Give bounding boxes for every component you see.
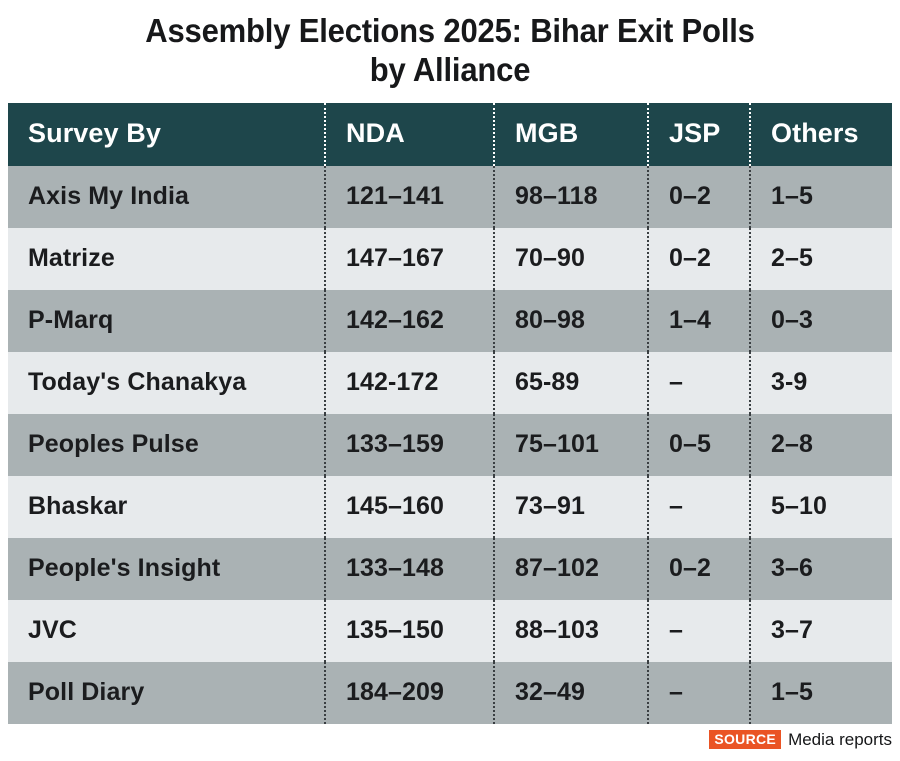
cell-survey: Peoples Pulse [8, 414, 325, 476]
table-row: Poll Diary 184–209 32–49 – 1–5 [8, 662, 892, 724]
cell-mgb: 32–49 [494, 662, 648, 724]
cell-survey: People's Insight [8, 538, 325, 600]
exit-poll-table-container: Survey By NDA MGB JSP Others Axis My Ind… [8, 103, 892, 724]
infographic-page: Assembly Elections 2025: Bihar Exit Poll… [0, 0, 900, 761]
cell-survey: Poll Diary [8, 662, 325, 724]
cell-mgb: 73–91 [494, 476, 648, 538]
cell-others: 2–8 [750, 414, 892, 476]
cell-others: 3–6 [750, 538, 892, 600]
cell-jsp: 0–5 [648, 414, 750, 476]
cell-others: 1–5 [750, 662, 892, 724]
cell-jsp: – [648, 662, 750, 724]
cell-jsp: 0–2 [648, 166, 750, 228]
cell-nda: 145–160 [325, 476, 494, 538]
exit-poll-table: Survey By NDA MGB JSP Others Axis My Ind… [8, 103, 892, 724]
cell-jsp: 0–2 [648, 228, 750, 290]
source-badge: SOURCE [709, 730, 781, 749]
column-header-survey-by: Survey By [8, 103, 325, 166]
cell-others: 1–5 [750, 166, 892, 228]
cell-jsp: – [648, 476, 750, 538]
cell-others: 3–7 [750, 600, 892, 662]
table-row: JVC 135–150 88–103 – 3–7 [8, 600, 892, 662]
cell-nda: 142–162 [325, 290, 494, 352]
cell-nda: 133–148 [325, 538, 494, 600]
table-header: Survey By NDA MGB JSP Others [8, 103, 892, 166]
column-header-mgb: MGB [494, 103, 648, 166]
cell-others: 3-9 [750, 352, 892, 414]
column-header-nda: NDA [325, 103, 494, 166]
table-row: Peoples Pulse 133–159 75–101 0–5 2–8 [8, 414, 892, 476]
table-body: Axis My India 121–141 98–118 0–2 1–5 Mat… [8, 166, 892, 724]
source-value: Media reports [788, 731, 892, 748]
table-row: People's Insight 133–148 87–102 0–2 3–6 [8, 538, 892, 600]
cell-survey: P-Marq [8, 290, 325, 352]
table-row: P-Marq 142–162 80–98 1–4 0–3 [8, 290, 892, 352]
cell-survey: Bhaskar [8, 476, 325, 538]
cell-others: 0–3 [750, 290, 892, 352]
cell-survey: Axis My India [8, 166, 325, 228]
cell-jsp: – [648, 600, 750, 662]
cell-jsp: 0–2 [648, 538, 750, 600]
title-line-1: Assembly Elections 2025: Bihar Exit Poll… [145, 12, 755, 49]
cell-mgb: 98–118 [494, 166, 648, 228]
cell-mgb: 75–101 [494, 414, 648, 476]
title-line-2: by Alliance [370, 51, 531, 88]
cell-jsp: – [648, 352, 750, 414]
table-row: Matrize 147–167 70–90 0–2 2–5 [8, 228, 892, 290]
cell-nda: 135–150 [325, 600, 494, 662]
column-header-jsp: JSP [648, 103, 750, 166]
table-row: Bhaskar 145–160 73–91 – 5–10 [8, 476, 892, 538]
source-footer: SOURCE Media reports [709, 730, 892, 749]
cell-mgb: 88–103 [494, 600, 648, 662]
cell-others: 2–5 [750, 228, 892, 290]
cell-nda: 184–209 [325, 662, 494, 724]
cell-others: 5–10 [750, 476, 892, 538]
cell-survey: Matrize [8, 228, 325, 290]
cell-nda: 133–159 [325, 414, 494, 476]
cell-mgb: 80–98 [494, 290, 648, 352]
cell-nda: 142-172 [325, 352, 494, 414]
cell-mgb: 87–102 [494, 538, 648, 600]
cell-nda: 147–167 [325, 228, 494, 290]
table-row: Axis My India 121–141 98–118 0–2 1–5 [8, 166, 892, 228]
cell-mgb: 70–90 [494, 228, 648, 290]
cell-nda: 121–141 [325, 166, 494, 228]
page-title: Assembly Elections 2025: Bihar Exit Poll… [27, 0, 873, 90]
table-row: Today's Chanakya 142-172 65-89 – 3-9 [8, 352, 892, 414]
column-header-others: Others [750, 103, 892, 166]
cell-survey: JVC [8, 600, 325, 662]
cell-survey: Today's Chanakya [8, 352, 325, 414]
cell-mgb: 65-89 [494, 352, 648, 414]
table-header-row: Survey By NDA MGB JSP Others [8, 103, 892, 166]
cell-jsp: 1–4 [648, 290, 750, 352]
